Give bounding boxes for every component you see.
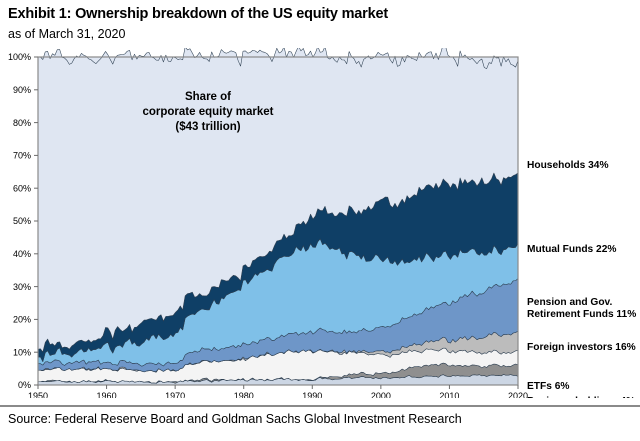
label-business-holdings: Business holdings 4% bbox=[527, 396, 635, 398]
x-tick-label: 1990 bbox=[302, 391, 322, 398]
source-divider bbox=[0, 405, 640, 407]
annotation-line-2: corporate equity market bbox=[142, 106, 273, 118]
annotation-line-3: ($43 trillion) bbox=[175, 121, 240, 133]
y-tick-label: 50% bbox=[13, 216, 31, 226]
x-tick-label: 2020 bbox=[508, 391, 528, 398]
x-tick-label: 1980 bbox=[234, 391, 254, 398]
y-tick-label: 20% bbox=[13, 315, 31, 325]
chart-series-areas bbox=[38, 48, 518, 385]
label-pension-line-2: Retirement Funds 11% bbox=[527, 309, 636, 320]
source-note: Source: Federal Reserve Board and Goldma… bbox=[8, 412, 462, 426]
x-tick-label: 1970 bbox=[165, 391, 185, 398]
exhibit-root: Exhibit 1: Ownership breakdown of the US… bbox=[0, 0, 640, 441]
y-tick-label: 10% bbox=[13, 347, 31, 357]
y-tick-label: 30% bbox=[13, 282, 31, 292]
label-mutual-funds: Mutual Funds 22% bbox=[527, 244, 616, 255]
x-tick-label: 1960 bbox=[97, 391, 117, 398]
y-tick-label: 100% bbox=[8, 52, 31, 62]
x-tick-label: 1950 bbox=[28, 391, 48, 398]
y-tick-label: 0% bbox=[18, 380, 31, 390]
x-tick-label: 2000 bbox=[371, 391, 391, 398]
y-tick-label: 60% bbox=[13, 183, 31, 193]
y-axis: 0%10%20%30%40%50%60%70%80%90%100% bbox=[8, 52, 38, 390]
label-pension-line-1: Pension and Gov. bbox=[527, 297, 612, 308]
page-subtitle: as of March 31, 2020 bbox=[8, 27, 125, 41]
series-labels: Households 34% Mutual Funds 22% Pension … bbox=[527, 160, 636, 398]
label-foreign-investors: Foreign investors 16% bbox=[527, 342, 636, 353]
page-title: Exhibit 1: Ownership breakdown of the US… bbox=[8, 6, 388, 22]
chart-canvas: 0%10%20%30%40%50%60%70%80%90%100% 195019… bbox=[0, 48, 640, 398]
stacked-area-chart: 0%10%20%30%40%50%60%70%80%90%100% 195019… bbox=[0, 48, 640, 398]
y-tick-label: 80% bbox=[13, 118, 31, 128]
y-tick-label: 40% bbox=[13, 249, 31, 259]
annotation-line-1: Share of bbox=[185, 91, 231, 103]
y-tick-label: 70% bbox=[13, 151, 31, 161]
x-axis: 19501960197019801990200020102020 bbox=[28, 385, 528, 398]
x-tick-label: 2010 bbox=[439, 391, 459, 398]
label-etfs: ETFs 6% bbox=[527, 381, 569, 392]
y-tick-label: 90% bbox=[13, 85, 31, 95]
label-households: Households 34% bbox=[527, 160, 609, 171]
